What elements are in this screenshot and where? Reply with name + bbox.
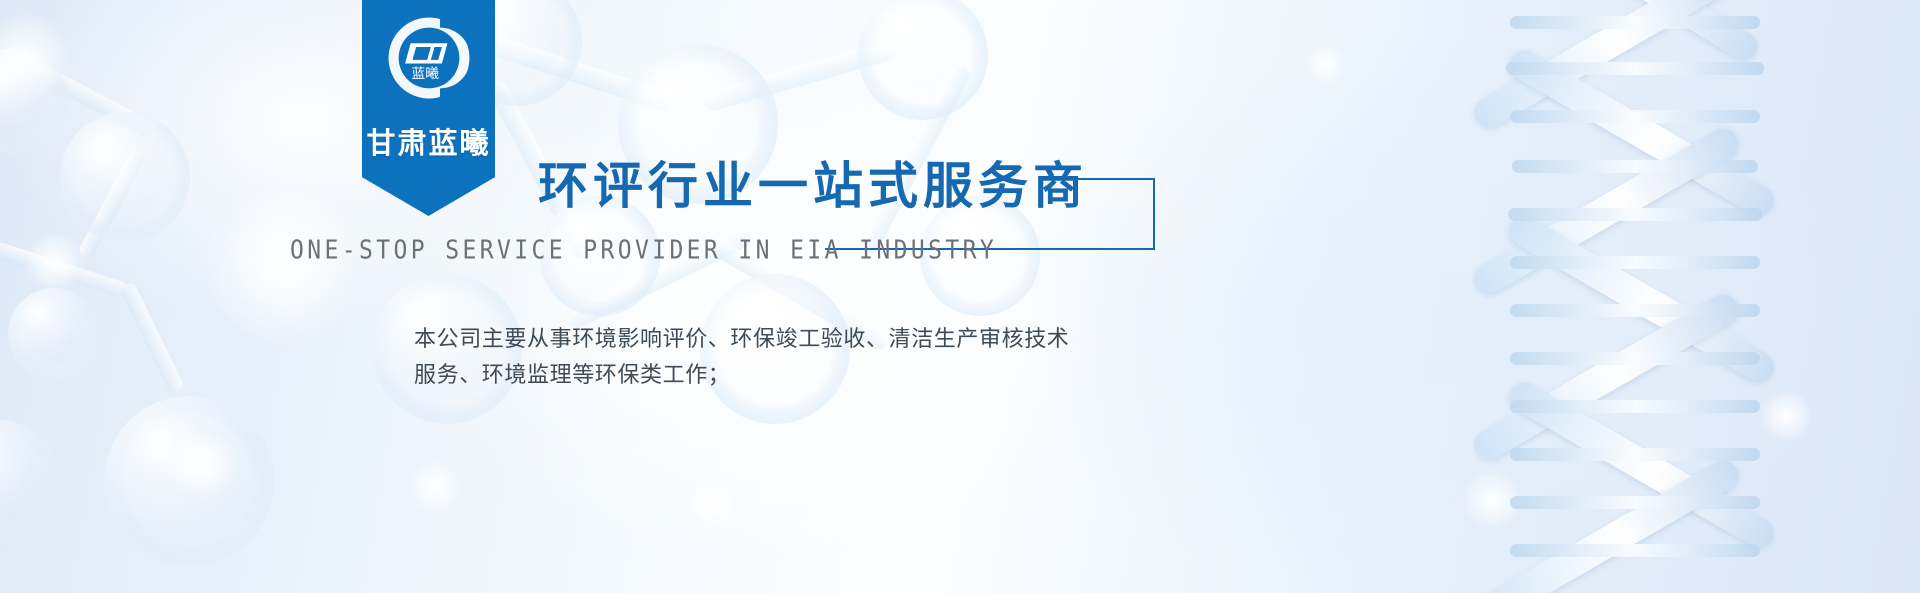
molecule-bond (472, 30, 678, 114)
bokeh-glow (408, 460, 462, 514)
decoration-top-line (1065, 178, 1155, 180)
company-short-name: 甘肃蓝曦 (362, 120, 495, 162)
subtitle: ONE-STOP SERVICE PROVIDER IN EIA INDUSTR… (290, 236, 997, 265)
bokeh-glow (168, 430, 238, 500)
company-badge: 蓝曦 甘肃蓝曦 (362, 0, 495, 216)
molecule-bond (77, 147, 147, 260)
bokeh-glow (0, 12, 70, 102)
molecule-bond (32, 62, 157, 139)
bokeh-glow (690, 480, 736, 526)
molecule-bond (0, 241, 129, 299)
dna-helix-illustration (1360, 0, 1920, 593)
molecule-bond (119, 281, 186, 396)
svg-text:蓝曦: 蓝曦 (411, 66, 439, 82)
molecule-atom (858, 0, 988, 120)
lanxi-circle-logo-icon: 蓝曦 (383, 12, 475, 104)
molecule-atom (0, 420, 60, 540)
molecule-atom (0, 48, 68, 154)
company-description: 本公司主要从事环境影响评价、环保竣工验收、清洁生产审核技术 服务、环境监理等环保… (414, 322, 1069, 394)
molecule-atom (8, 288, 100, 380)
molecule-atom (104, 396, 274, 566)
company-description-line-2: 服务、环境监理等环保类工作； (414, 358, 1069, 394)
company-description-line-1: 本公司主要从事环境影响评价、环保竣工验收、清洁生产审核技术 (414, 322, 1069, 358)
hero-banner: 蓝曦 甘肃蓝曦 环评行业一站式服务商 ONE-STOP SERVICE PROV… (0, 0, 1920, 593)
molecule-atom (60, 112, 190, 242)
bokeh-glow (1306, 44, 1346, 84)
bokeh-glow (24, 232, 84, 292)
molecule-bond (701, 39, 899, 113)
decoration-vertical-line (1153, 178, 1155, 250)
